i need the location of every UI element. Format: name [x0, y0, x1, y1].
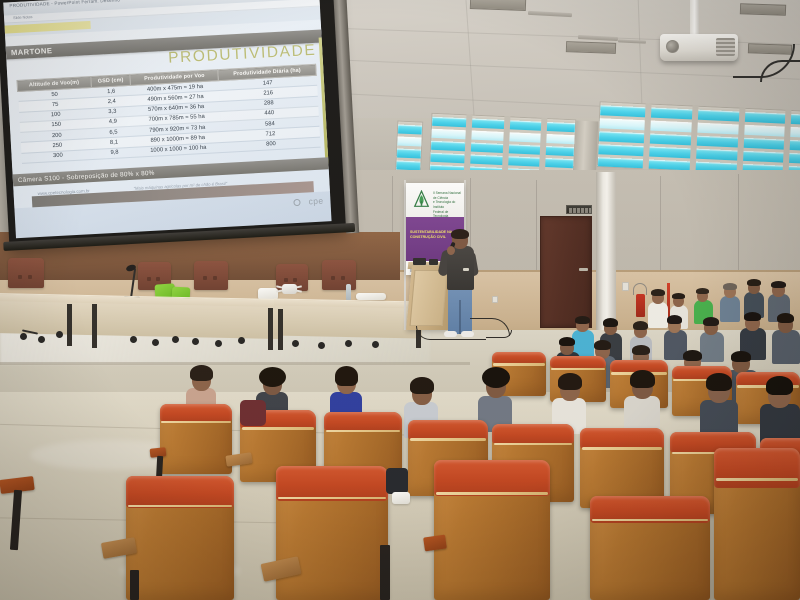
cpe-logo-text: cpe [308, 196, 323, 207]
audience-hair [703, 317, 719, 326]
table-leg [278, 309, 283, 350]
audience-person [700, 332, 724, 362]
ceiling-vent [470, 0, 526, 11]
speaker-hand [447, 246, 455, 255]
panel-chair [194, 261, 228, 290]
floor-cable [486, 330, 512, 338]
head-table-front [274, 305, 423, 338]
ceiling-light-strip [578, 35, 618, 41]
auditorium-seat[interactable] [590, 496, 710, 600]
ceiling-light-strip [528, 11, 572, 17]
audience-hair [777, 313, 794, 323]
papers [356, 293, 386, 300]
cpe-logo-mark-icon [293, 199, 300, 206]
audience-hair [335, 366, 358, 386]
audience-hair [747, 279, 761, 286]
audience-hair [603, 318, 618, 327]
fire-extinguisher [636, 294, 645, 317]
banner-org-text: II Semana Nacional de Ciência e Tecnolog… [433, 191, 464, 219]
audience-hair [633, 321, 648, 330]
auditorium-seat[interactable] [714, 448, 800, 600]
speaker-watch [463, 268, 469, 271]
speaker-hair [451, 229, 469, 239]
audience-hair [696, 288, 709, 294]
exit-sign [566, 205, 592, 214]
audience-hair [410, 377, 434, 394]
audience-hair [630, 370, 655, 388]
backpack [240, 400, 266, 426]
audience-hair [559, 337, 575, 346]
audience-hair [482, 367, 510, 388]
table-leg [92, 304, 97, 348]
table-body: 501,6400m x 475m = 19 ha147 752,4490m x … [18, 75, 320, 163]
wall-outlet[interactable] [492, 296, 498, 303]
auditorium-scene: PRODUTIVIDADE - PowerPoint Ferram. Desen… [0, 0, 800, 600]
projector-lens-icon [666, 40, 679, 53]
backpack [386, 468, 408, 494]
clerestory-window-right [597, 101, 800, 179]
audience-hair [558, 373, 582, 390]
audience-hair [259, 367, 286, 387]
water-bottle [346, 284, 351, 300]
lectern-device [429, 259, 438, 265]
seat-leg [380, 545, 390, 600]
projector-mount-pole [690, 0, 699, 36]
audience-person [772, 330, 800, 364]
audience-hair [594, 340, 611, 350]
audience-hair [706, 373, 732, 391]
light-switch[interactable] [622, 282, 629, 291]
table-leg [268, 308, 273, 350]
audience-hair [744, 312, 761, 321]
audience-hair [575, 316, 590, 324]
audience-hair [771, 281, 786, 288]
head-table-front [0, 301, 280, 339]
audience-hair [723, 283, 737, 290]
audience-hair [632, 345, 650, 355]
stage-step-edge [0, 362, 470, 365]
auditorium-seat[interactable] [276, 466, 388, 600]
support-column [596, 172, 616, 342]
door-handle[interactable] [579, 268, 588, 271]
panel-chair [8, 258, 44, 288]
audience-person [648, 302, 668, 328]
audience-hair [731, 351, 751, 362]
productivity-table: Altitude de Voo(m) GSD (cm) Produtividad… [16, 64, 320, 164]
paper-sheet [392, 492, 410, 504]
drone [282, 284, 297, 294]
audience-hair [766, 376, 793, 395]
projection-screen: PRODUTIVIDADE - PowerPoint Ferram. Desen… [0, 0, 349, 248]
ceiling-vent [566, 41, 616, 54]
audience-hair [651, 289, 665, 296]
institute-tree-logo [413, 190, 430, 208]
audience-hair [672, 293, 685, 299]
auditorium-seat[interactable] [434, 460, 550, 600]
lectern-face-panel [410, 270, 448, 326]
slide-canvas: MARTONE PRODUTIVIDADE Altitude de Voo(m)… [5, 19, 330, 208]
audience-hair [667, 315, 682, 324]
ceiling-light-strip [618, 39, 646, 43]
auditorium-seat[interactable] [160, 404, 232, 474]
table-leg [67, 304, 72, 346]
seat-leg [130, 570, 139, 600]
audience-hair [190, 365, 213, 381]
auditorium-door[interactable] [540, 216, 592, 328]
ceiling-vent [740, 3, 786, 16]
audience-person [720, 296, 740, 322]
lectern-laptop [413, 258, 426, 265]
audience-hair [683, 350, 702, 361]
auditorium-seat[interactable] [126, 476, 234, 600]
